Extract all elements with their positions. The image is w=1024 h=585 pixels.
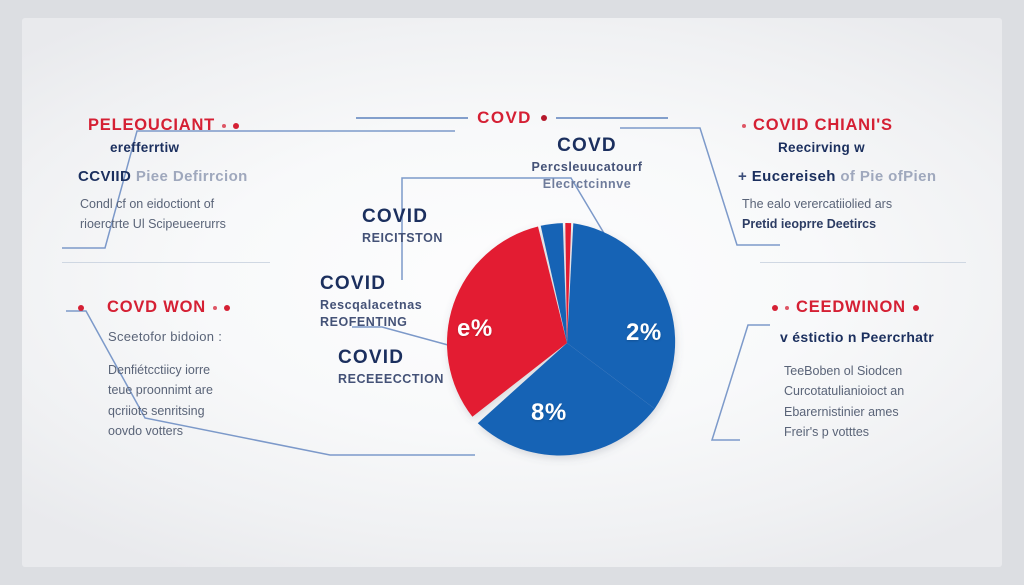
bottom-left-body: Denfiétcctiicy iorre teue proonnimt are …	[108, 360, 230, 441]
bottom-left-kicker-sub: Sceetofor bidoion :	[108, 329, 230, 344]
bullet-dot-icon	[224, 305, 230, 311]
body-line: Freir's p votttes	[784, 422, 934, 442]
callout-upper-center: COVD Percsleuucatourf Elecrctcinnve	[498, 136, 676, 193]
callout-mid-left: COVID REICITSTON	[362, 207, 532, 247]
top-left-heading: CCVIID Piee Defirrcion	[78, 168, 248, 185]
pie-label-2pct: 2%	[626, 319, 662, 347]
bullet-dot-small-icon	[785, 306, 789, 310]
top-left-heading-main: CCVIID	[78, 168, 131, 185]
quadrant-top-right: COVID CHIANI'S Reecirving w + Eucereiseh…	[742, 116, 936, 235]
top-left-kicker-sub: erefferrtiw	[110, 140, 248, 155]
body-line: teue proonnimt are	[108, 380, 230, 400]
rule-left	[356, 117, 468, 118]
bottom-right-kicker: CEEDWINON	[772, 298, 934, 317]
callout-title: COVID	[362, 207, 532, 227]
top-right-heading-rest: of Pie ofPien	[840, 168, 936, 185]
callout-title: COVID	[320, 274, 500, 294]
bottom-right-kicker-sub: v éstictio n Peercrhatr	[780, 329, 934, 345]
top-right-kicker-text: COVID CHIANI'S	[753, 116, 893, 135]
callout-sub-line: RECEEECCTION	[338, 371, 518, 388]
divider-right	[760, 262, 966, 263]
bottom-left-kicker: COVD WON	[78, 298, 230, 317]
quadrant-bottom-left: COVD WON Sceetofor bidoion : Denfiétccti…	[78, 298, 230, 441]
bullet-dot-small-icon	[213, 306, 217, 310]
quadrant-bottom-right: CEEDWINON v éstictio n Peercrhatr TeeBob…	[772, 298, 934, 442]
bullet-dot-icon	[772, 305, 778, 311]
pie-chart: 2% 8% e%	[430, 207, 710, 487]
callout-lower-left: COVID Rescqalacetnas REOFENTING	[320, 274, 500, 331]
callout-sub: RECEEECCTION	[338, 371, 518, 388]
top-right-kicker: COVID CHIANI'S	[742, 116, 936, 135]
top-right-kicker-sub: Reecirving w	[778, 140, 936, 155]
bottom-right-body: TeeBoben ol Siodcen Curcotatulianioioct …	[784, 361, 934, 442]
top-left-kicker: PELEOUCIANT	[88, 116, 248, 135]
callout-sub-line: REOFENTING	[320, 314, 500, 331]
quadrant-top-left: PELEOUCIANT erefferrtiw CCVIID Piee Defi…	[88, 116, 248, 235]
bottom-left-kicker-text: COVD WON	[107, 298, 206, 317]
callout-title: COVD	[498, 136, 676, 156]
callout-sub-line: REICITSTON	[362, 230, 532, 247]
top-left-heading-rest: Piee Defirrcion	[136, 168, 248, 185]
callout-sub: Percsleuucatourf Elecrctcinnve	[498, 159, 676, 194]
body-line: Curcotatulianioioct an	[784, 381, 934, 401]
body-line: Condl cf on eidoctiont of	[80, 194, 248, 214]
body-line: rioerctrte Ul Scipeueerurrs	[80, 214, 248, 234]
callout-sub: REICITSTON	[362, 230, 532, 247]
top-right-heading: + Eucereiseh of Pie ofPien	[738, 168, 936, 185]
body-line: Pretid ieoprre Deetircs	[742, 214, 936, 234]
callout-sub: Rescqalacetnas REOFENTING	[320, 297, 500, 332]
pie-label-8pct: 8%	[531, 399, 567, 427]
callout-sub-line: Elecrctcinnve	[498, 176, 676, 193]
body-line: Denfiétcctiicy iorre	[108, 360, 230, 380]
body-line: qcriiots senritsing	[108, 401, 230, 421]
bullet-dot-icon	[541, 115, 547, 121]
bottom-right-kicker-text: CEEDWINON	[796, 298, 906, 317]
bullet-dot-icon	[233, 123, 239, 129]
callout-sub-line: Percsleuucatourf	[498, 159, 676, 176]
rule-right	[556, 117, 668, 118]
body-line: TeeBoben ol Siodcen	[784, 361, 934, 381]
top-left-kicker-text: PELEOUCIANT	[88, 116, 215, 135]
callout-title: COVID	[338, 348, 518, 368]
top-label-text: COVD	[477, 108, 532, 128]
top-left-body: Condl cf on eidoctiont of rioerctrte Ul …	[80, 194, 248, 235]
infographic-canvas: COVD 2%	[0, 0, 1024, 585]
callout-sub-line: Rescqalacetnas	[320, 297, 500, 314]
plus-icon: +	[738, 168, 752, 185]
body-line: oovdo votters	[108, 421, 230, 441]
bullet-dot-small-icon	[222, 124, 226, 128]
body-line: Ebarernistinier ames	[784, 402, 934, 422]
bullet-dot-icon	[78, 305, 84, 311]
divider-left	[62, 262, 270, 263]
top-right-heading-main: Eucereiseh	[752, 168, 836, 185]
bullet-dot-small-icon	[742, 124, 746, 128]
top-right-body: The ealo verercatiiolied ars Pretid ieop…	[742, 194, 936, 235]
bullet-dot-icon	[913, 305, 919, 311]
body-line: The ealo verercatiiolied ars	[742, 194, 936, 214]
callout-bottom-left-inner: COVID RECEEECCTION	[338, 348, 518, 388]
